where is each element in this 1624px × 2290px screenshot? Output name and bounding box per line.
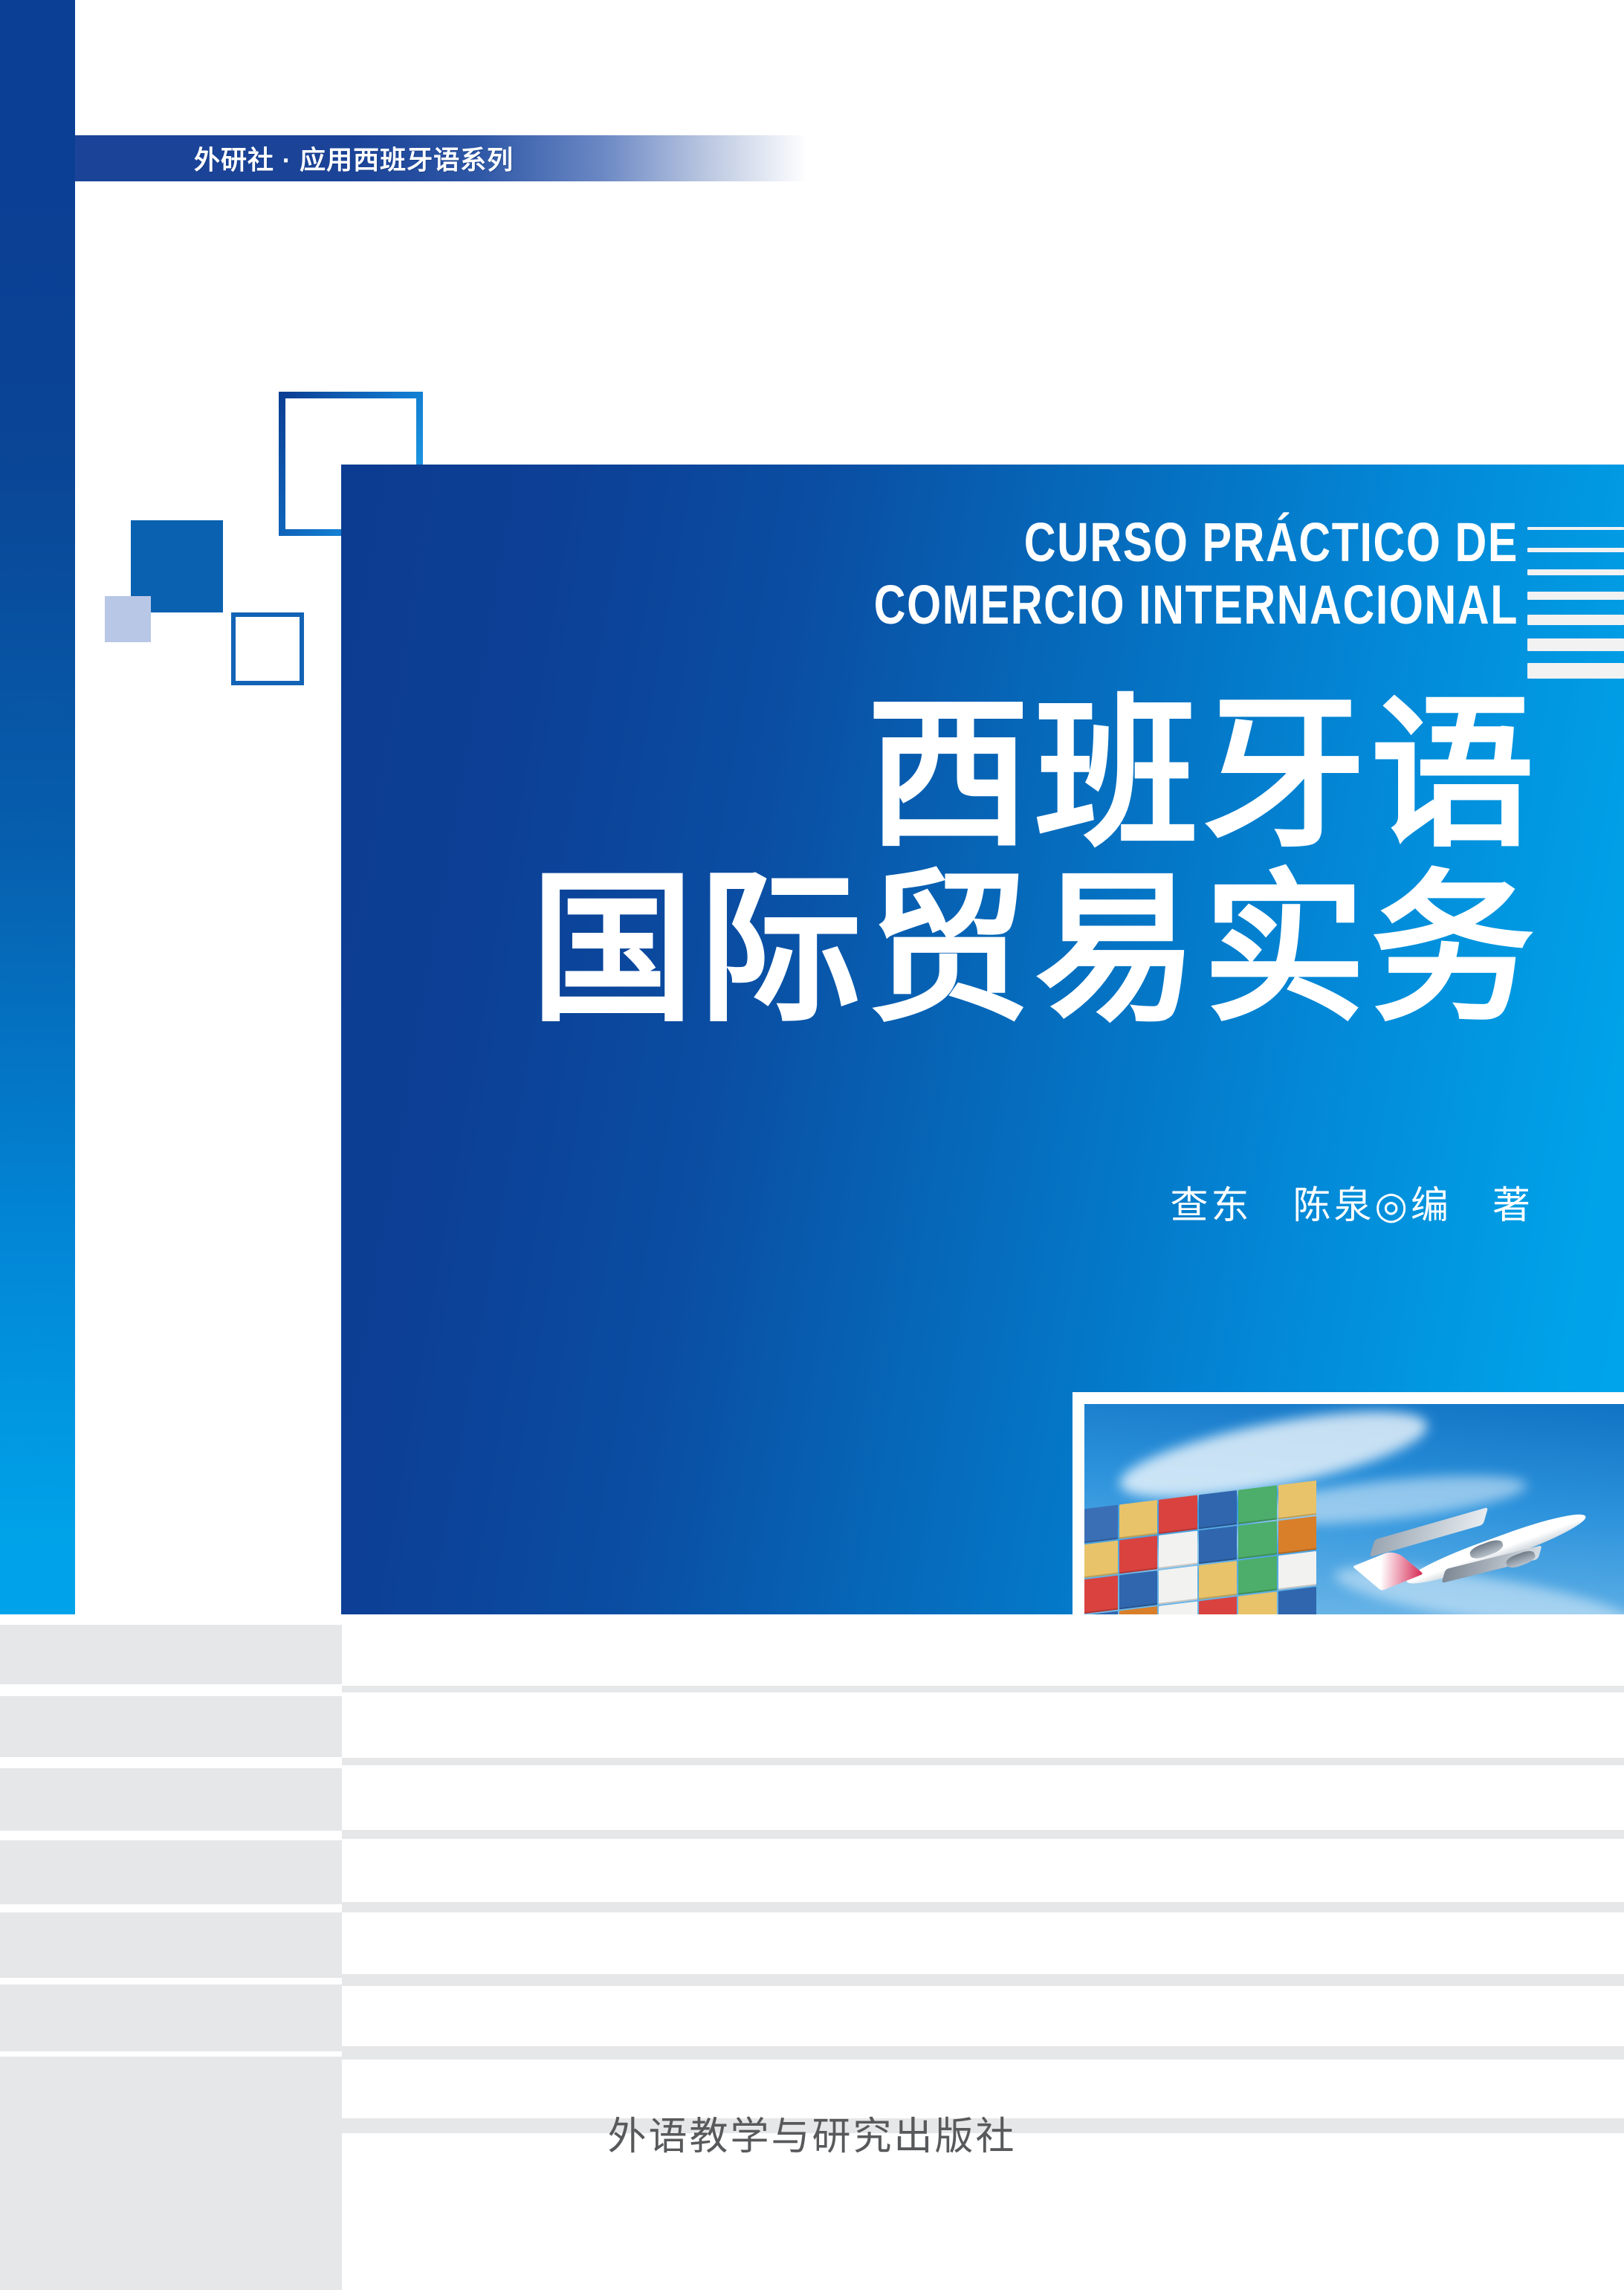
decor-edge-line — [1527, 548, 1624, 552]
shipping-container — [1084, 1505, 1117, 1544]
shipping-container — [1278, 1516, 1317, 1555]
shipping-container — [1238, 1521, 1277, 1559]
shipping-container — [1198, 1490, 1237, 1529]
stripe-line — [342, 1974, 1624, 1986]
bottom-stripe-band — [0, 1614, 1624, 2290]
stripe-line — [342, 1686, 1624, 1692]
stripe-block — [0, 1696, 342, 1757]
shipping-container — [1278, 1551, 1317, 1590]
shipping-container — [1198, 1561, 1237, 1600]
shipping-container — [1084, 1576, 1117, 1614]
stripe-right-column — [342, 1614, 1624, 2290]
shipping-container — [1278, 1481, 1317, 1519]
cargo-airplane — [1365, 1486, 1592, 1615]
stripe-line — [342, 1902, 1624, 1912]
stripe-line — [342, 1758, 1624, 1765]
stripe-block — [0, 2057, 342, 2290]
series-banner-label: 外研社 · 应用西班牙语系列 — [194, 140, 514, 178]
decor-square-pale — [105, 596, 151, 642]
spanish-title: CURSO PRÁCTICO DE COMERCIO INTERNACIONAL — [612, 515, 1518, 633]
decor-edge-lines — [1527, 527, 1624, 679]
stripe-block — [0, 1985, 342, 2051]
shipping-container — [1159, 1566, 1197, 1605]
stripe-left-column — [0, 1614, 342, 2290]
stripe-block — [0, 1768, 342, 1831]
chinese-title: 西班牙语 国际贸易实务 — [341, 688, 1539, 1038]
decor-edge-line — [1527, 592, 1624, 600]
author-line: 查东 陈泉◎编 著 — [1170, 1174, 1533, 1229]
shipping-container — [1238, 1556, 1277, 1595]
series-banner: 外研社 · 应用西班牙语系列 — [75, 135, 807, 181]
decor-edge-line — [1527, 663, 1624, 679]
stripe-line — [342, 2046, 1624, 2060]
stripe-block — [0, 1912, 342, 1978]
shipping-container — [1198, 1526, 1237, 1565]
shipping-container — [1159, 1495, 1197, 1534]
shipping-container — [1084, 1541, 1117, 1579]
decor-square-outline-small — [231, 612, 304, 685]
decor-edge-line — [1527, 615, 1624, 625]
spanish-title-line-2: COMERCIO INTERNACIONAL — [612, 578, 1518, 633]
publisher-name: 外语教学与研究出版社 — [0, 2105, 1624, 2161]
shipping-container — [1119, 1500, 1157, 1539]
book-cover: 外研社 · 应用西班牙语系列 CURSO PRÁCTICO DE COMERCI… — [0, 0, 1624, 2290]
chinese-title-line-2: 国际贸易实务 — [341, 862, 1539, 1037]
stripe-line — [342, 1830, 1624, 1839]
stripe-block — [0, 1625, 342, 1684]
spine-gradient-bar — [0, 0, 75, 1627]
decor-edge-line — [1527, 527, 1624, 530]
spanish-title-line-1: CURSO PRÁCTICO DE — [612, 515, 1518, 570]
shipping-container — [1119, 1571, 1157, 1610]
shipping-container — [1159, 1530, 1197, 1569]
shipping-container — [1238, 1485, 1277, 1524]
stripe-block — [0, 1840, 342, 1904]
decor-edge-line — [1527, 638, 1624, 651]
shipping-container — [1119, 1536, 1157, 1574]
decor-edge-line — [1527, 569, 1624, 575]
chinese-title-line-1: 西班牙语 — [341, 688, 1539, 862]
